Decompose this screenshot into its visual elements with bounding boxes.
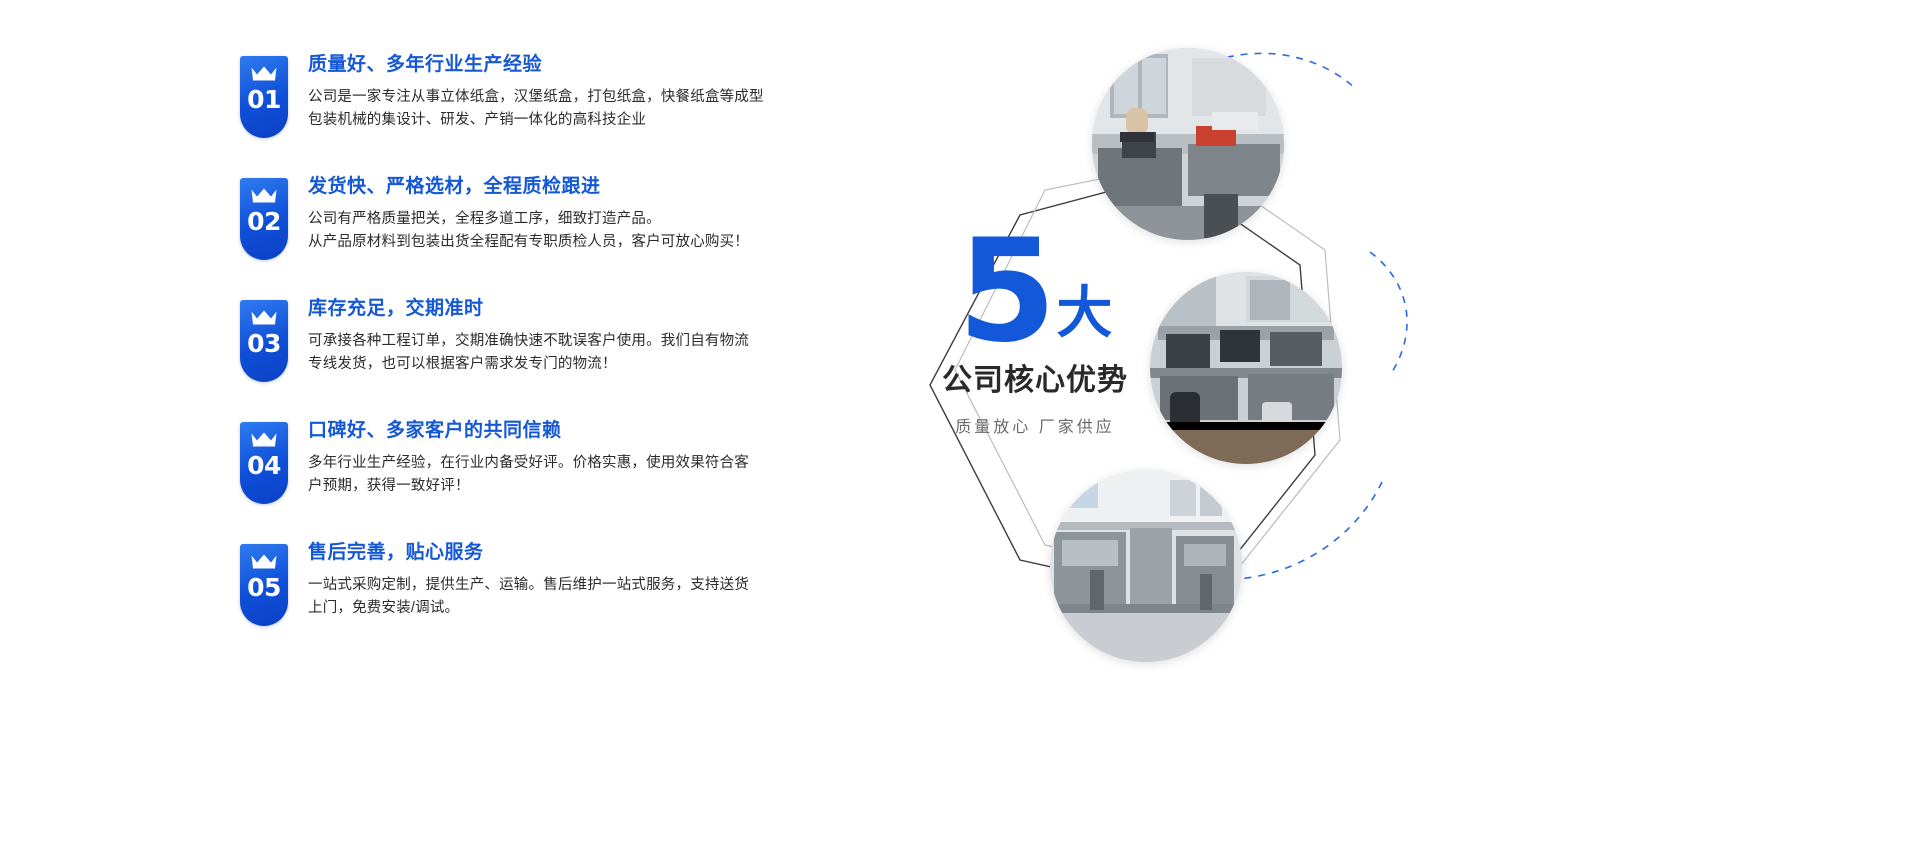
hexagon-graphic-area: 5 大 公司核心优势 质量放心 厂家供应 bbox=[770, 0, 1920, 847]
advantage-body: 售后完善，贴心服务 一站式采购定制，提供生产、运输。售后维护一站式服务，支持送货… bbox=[308, 540, 749, 621]
advantage-title: 质量好、多年行业生产经验 bbox=[308, 54, 764, 77]
desc-line: 多年行业生产经验，在行业内备受好评。价格实惠，使用效果符合客 bbox=[308, 452, 749, 475]
advantage-list: 01 质量好、多年行业生产经验 公司是一家专注从事立体纸盒，汉堡纸盒，打包纸盒，… bbox=[240, 52, 800, 626]
advantage-body: 发货快、严格选材，全程质检跟进 公司有严格质量把关，全程多道工序，细致打造产品。… bbox=[308, 174, 749, 255]
advantage-description: 公司有严格质量把关，全程多道工序，细致打造产品。 从产品原材料到包装出货全程配有… bbox=[308, 208, 749, 255]
photo-1-illustration bbox=[1092, 48, 1284, 240]
advantage-description: 可承接各种工程订单，交期准确快速不耽误客户使用。我们自有物流 专线发货，也可以根… bbox=[308, 330, 749, 377]
desc-line: 包装机械的集设计、研发、产销一体化的高科技企业 bbox=[308, 109, 764, 132]
badge-03: 03 bbox=[240, 300, 288, 382]
photo-2-illustration bbox=[1150, 272, 1342, 464]
crown-icon bbox=[250, 431, 278, 449]
desc-line: 一站式采购定制，提供生产、运输。售后维护一站式服务，支持送货 bbox=[308, 574, 749, 597]
dashed-connector-middle bbox=[1370, 252, 1407, 372]
advantage-item-01: 01 质量好、多年行业生产经验 公司是一家专注从事立体纸盒，汉堡纸盒，打包纸盒，… bbox=[240, 52, 800, 138]
badge-02: 02 bbox=[240, 178, 288, 260]
big-number: 5 bbox=[958, 232, 1053, 353]
advantage-title: 口碑好、多家客户的共同信赖 bbox=[308, 420, 749, 443]
advantage-body: 口碑好、多家客户的共同信赖 多年行业生产经验，在行业内备受好评。价格实惠，使用效… bbox=[308, 418, 749, 499]
advantage-item-03: 03 库存充足，交期准时 可承接各种工程订单，交期准确快速不耽误客户使用。我们自… bbox=[240, 296, 800, 382]
crown-icon bbox=[250, 553, 278, 571]
photo-3-illustration bbox=[1050, 470, 1242, 662]
desc-line: 公司有严格质量把关，全程多道工序，细致打造产品。 bbox=[308, 208, 749, 231]
badge-number: 04 bbox=[247, 453, 281, 478]
photo-office-workstation bbox=[1092, 48, 1284, 240]
desc-line: 专线发货，也可以根据客户需求发专门的物流！ bbox=[308, 353, 749, 376]
advantage-title: 售后完善，贴心服务 bbox=[308, 542, 749, 565]
badge-number: 01 bbox=[247, 87, 281, 112]
badge-04: 04 bbox=[240, 422, 288, 504]
desc-line: 上门，免费安装/调试。 bbox=[308, 597, 749, 620]
advantage-item-02: 02 发货快、严格选材，全程质检跟进 公司有严格质量把关，全程多道工序，细致打造… bbox=[240, 174, 800, 260]
crown-icon bbox=[250, 309, 278, 327]
desc-line: 户预期，获得一致好评！ bbox=[308, 475, 749, 498]
badge-01: 01 bbox=[240, 56, 288, 138]
badge-number: 03 bbox=[247, 331, 281, 356]
crown-icon bbox=[250, 65, 278, 83]
photo-packaging-machine bbox=[1050, 470, 1242, 662]
center-tagline: 质量放心 厂家供应 bbox=[870, 413, 1200, 437]
promo-banner: 01 质量好、多年行业生产经验 公司是一家专注从事立体纸盒，汉堡纸盒，打包纸盒，… bbox=[0, 0, 1920, 847]
desc-line: 从产品原材料到包装出货全程配有专职质检人员，客户可放心购买！ bbox=[308, 231, 749, 254]
photo-office-desks bbox=[1150, 272, 1342, 464]
advantage-body: 质量好、多年行业生产经验 公司是一家专注从事立体纸盒，汉堡纸盒，打包纸盒，快餐纸… bbox=[308, 52, 764, 133]
advantage-item-05: 05 售后完善，贴心服务 一站式采购定制，提供生产、运输。售后维护一站式服务，支… bbox=[240, 540, 800, 626]
big-unit: 大 bbox=[1056, 289, 1112, 337]
advantage-title: 库存充足，交期准时 bbox=[308, 298, 749, 321]
badge-number: 02 bbox=[247, 209, 281, 234]
advantage-description: 一站式采购定制，提供生产、运输。售后维护一站式服务，支持送货 上门，免费安装/调… bbox=[308, 574, 749, 621]
badge-number: 05 bbox=[247, 575, 281, 600]
advantage-title: 发货快、严格选材，全程质检跟进 bbox=[308, 176, 749, 199]
desc-line: 可承接各种工程订单，交期准确快速不耽误客户使用。我们自有物流 bbox=[308, 330, 749, 353]
advantage-description: 公司是一家专注从事立体纸盒，汉堡纸盒，打包纸盒，快餐纸盒等成型 包装机械的集设计… bbox=[308, 86, 764, 133]
advantage-item-04: 04 口碑好、多家客户的共同信赖 多年行业生产经验，在行业内备受好评。价格实惠，… bbox=[240, 418, 800, 504]
crown-icon bbox=[250, 187, 278, 205]
advantage-description: 多年行业生产经验，在行业内备受好评。价格实惠，使用效果符合客 户预期，获得一致好… bbox=[308, 452, 749, 499]
advantage-body: 库存充足，交期准时 可承接各种工程订单，交期准确快速不耽误客户使用。我们自有物流… bbox=[308, 296, 749, 377]
center-headline-block: 5 大 公司核心优势 质量放心 厂家供应 bbox=[870, 232, 1200, 437]
big-number-row: 5 大 bbox=[870, 232, 1200, 353]
badge-05: 05 bbox=[240, 544, 288, 626]
desc-line: 公司是一家专注从事立体纸盒，汉堡纸盒，打包纸盒，快餐纸盒等成型 bbox=[308, 86, 764, 109]
